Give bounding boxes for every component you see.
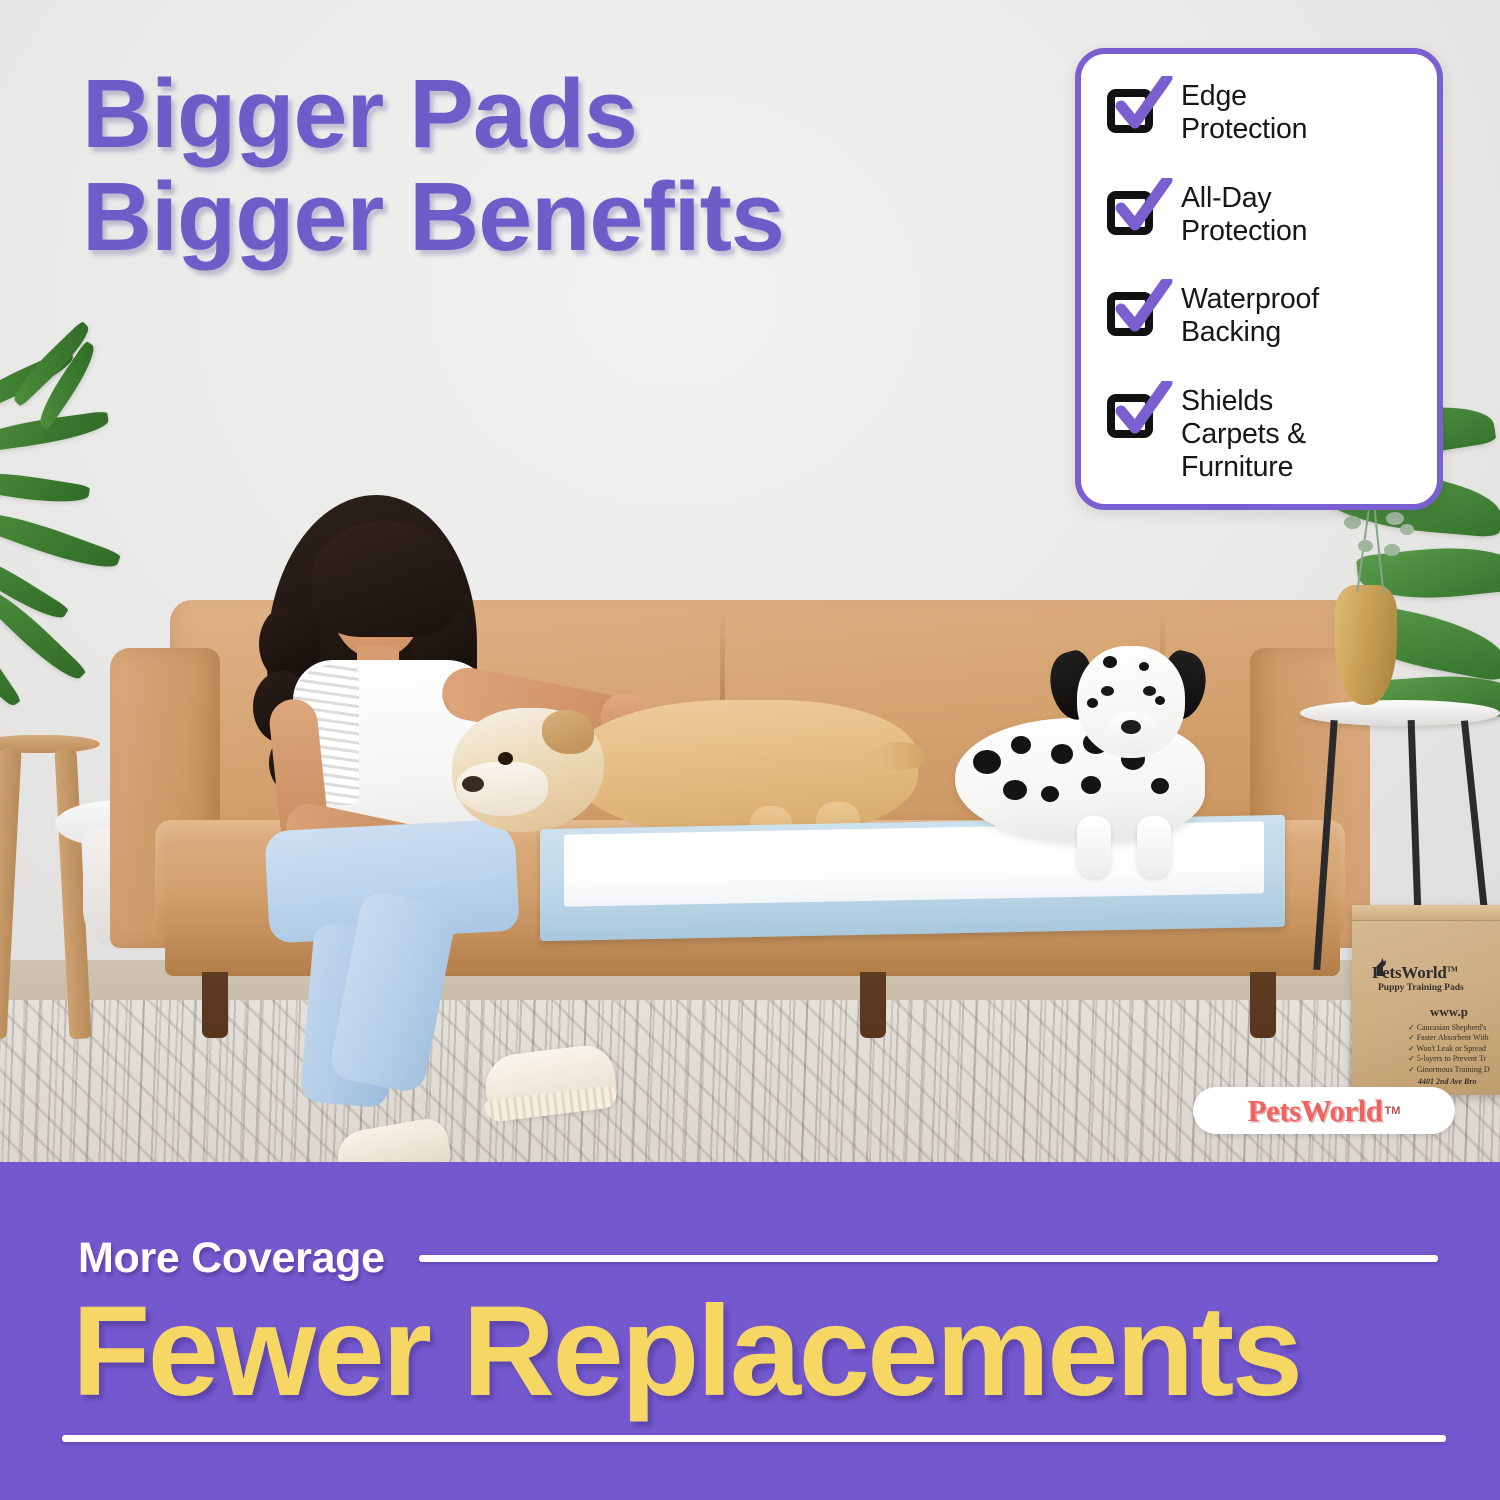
banner-kicker-row: More Coverage (78, 1234, 1438, 1283)
box-bullet: ✓ Ginormous Training D (1408, 1065, 1500, 1075)
box-bullets: ✓ Caucasian Shepherd's ✓ Faster Absorben… (1408, 1023, 1500, 1075)
checkbox-checked-icon (1107, 286, 1159, 336)
banner-divider-rule (419, 1255, 1438, 1262)
box-bullet: ✓ Won't Leak or Spread (1408, 1044, 1500, 1054)
checklist-item-label: Edge Protection (1181, 80, 1307, 146)
product-shipping-box: PetsWorldTM Puppy Training Pads www.p ✓ … (1352, 905, 1500, 1095)
checklist-item-edge-protection: Edge Protection (1107, 80, 1419, 146)
checklist-item-waterproof-backing: Waterproof Backing (1107, 283, 1419, 349)
checklist-item-label: All-Day Protection (1181, 182, 1307, 248)
brand-logo-text: PetsWorld (1248, 1093, 1383, 1129)
headline: Bigger Pads Bigger Benefits (82, 62, 784, 268)
checklist-item-shields-carpets-furniture: Shields Carpets & Furniture (1107, 385, 1419, 484)
checklist-item-all-day-protection: All-Day Protection (1107, 182, 1419, 248)
box-brand: PetsWorldTM (1372, 963, 1458, 983)
checklist-item-label: Shields Carpets & Furniture (1181, 385, 1306, 484)
bottom-banner: More Coverage Fewer Replacements (0, 1162, 1500, 1500)
dalmatian-dog (955, 640, 1265, 900)
checkbox-checked-icon (1107, 185, 1159, 235)
checkbox-checked-icon (1107, 388, 1159, 438)
ad-canvas: PetsWorldTM Puppy Training Pads www.p ✓ … (0, 0, 1500, 1500)
banner-headline-text: Fewer Replacements (72, 1284, 1460, 1420)
brand-logo: PetsWorldTM (1193, 1087, 1455, 1134)
box-subtitle: Puppy Training Pads (1378, 983, 1464, 993)
headline-line-1: Bigger Pads (82, 62, 784, 165)
benefits-checklist-panel: Edge Protection All-Day Protection Water… (1075, 48, 1443, 510)
checklist-item-label: Waterproof Backing (1181, 283, 1319, 349)
box-bullet: ✓ Faster Absorbent With (1408, 1033, 1500, 1043)
box-bullet: ✓ Caucasian Shepherd's (1408, 1023, 1500, 1033)
box-address: 4401 2nd Ave Bro (1418, 1077, 1476, 1086)
box-website: www.p (1430, 1004, 1468, 1020)
banner-bottom-rule (62, 1435, 1446, 1442)
trademark-symbol: TM (1385, 1105, 1401, 1117)
headline-line-2: Bigger Benefits (82, 165, 784, 268)
box-bullet: ✓ 5-layers to Prevent Tr (1408, 1054, 1500, 1064)
checkbox-checked-icon (1107, 83, 1159, 133)
banner-kicker-text: More Coverage (78, 1234, 385, 1283)
